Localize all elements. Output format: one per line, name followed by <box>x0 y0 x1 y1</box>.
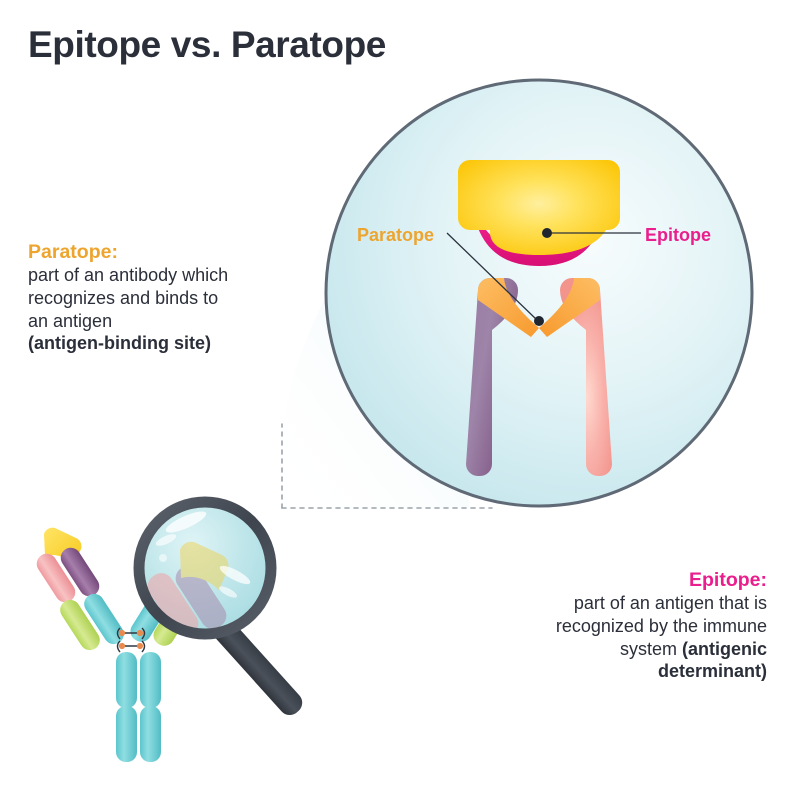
epitope-definition: Epitope: part of an antigen that is reco… <box>487 568 767 683</box>
epitope-definition-line2: recognized by the immune <box>487 615 767 638</box>
paratope-definition-line4: (antigen-binding site) <box>28 332 298 355</box>
paratope-definition-line1: part of an antibody which <box>28 264 298 287</box>
paratope-definition-line2: recognizes and binds to <box>28 287 298 310</box>
paratope-callout-label: Paratope <box>357 225 434 246</box>
antibody-fc-stem <box>116 652 161 762</box>
epitope-definition-line3-bold: (antigenic <box>682 639 767 659</box>
epitope-definition-line4-bold: determinant) <box>658 661 767 681</box>
paratope-definition-lead: Paratope: <box>28 240 298 264</box>
epitope-definition-line3: system (antigenic <box>487 638 767 661</box>
infographic-canvas: Epitope vs. Paratope <box>0 0 800 800</box>
magnifying-glass <box>139 502 307 720</box>
epitope-callout-label: Epitope <box>645 225 711 246</box>
epitope-definition-line3-prefix: system <box>620 639 682 659</box>
epitope-definition-lead: Epitope: <box>487 568 767 592</box>
epitope-definition-line1: part of an antigen that is <box>487 592 767 615</box>
paratope-definition-line4-bold: (antigen-binding site) <box>28 333 211 353</box>
paratope-definition-line3: an antigen <box>28 310 298 333</box>
paratope-definition: Paratope: part of an antibody which reco… <box>28 240 298 355</box>
epitope-definition-line4: determinant) <box>487 660 767 683</box>
antibody-left-arm <box>33 528 128 654</box>
magnified-view-circle <box>326 80 752 506</box>
